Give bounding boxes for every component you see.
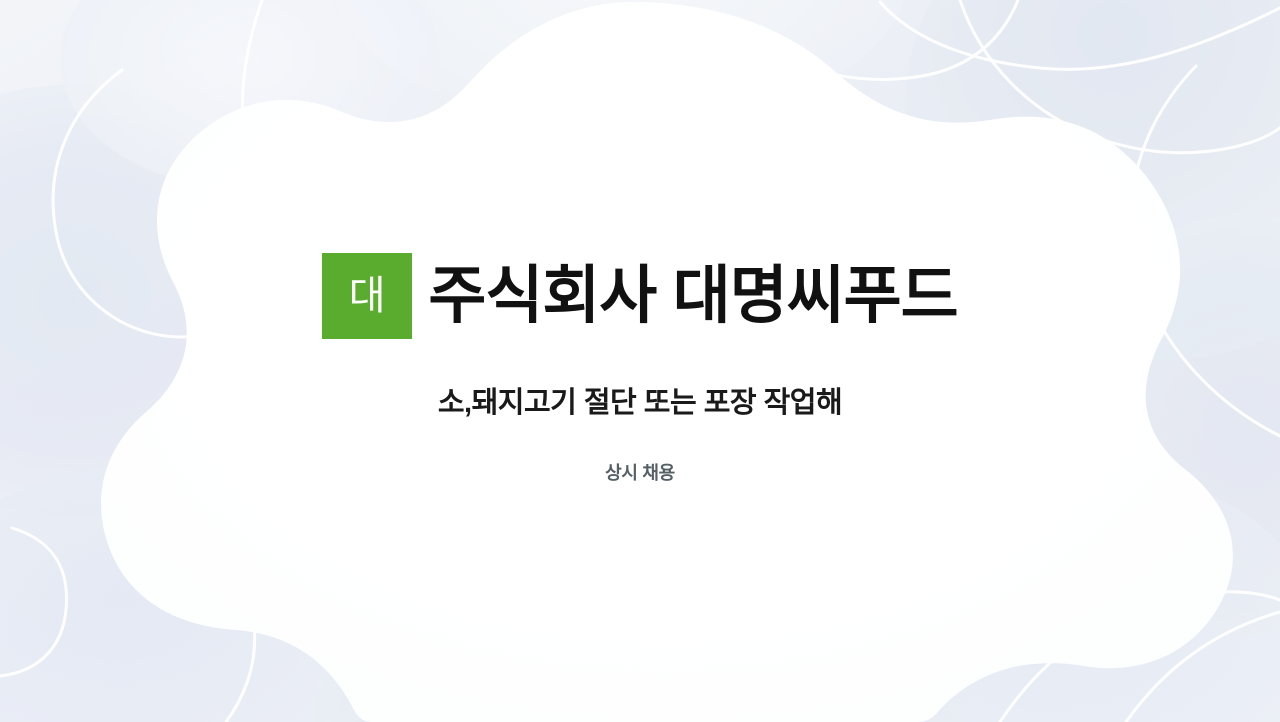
company-initial-badge-label: 대 xyxy=(349,276,386,316)
card-content: 대 주식회사 대명씨푸드 소,돼지고기 절단 또는 포장 작업해 상시 채용 xyxy=(0,0,1280,722)
company-title-row: 대 주식회사 대명씨푸드 xyxy=(0,253,1280,339)
company-initial-badge: 대 xyxy=(322,253,412,339)
job-posting-card: 대 주식회사 대명씨푸드 소,돼지고기 절단 또는 포장 작업해 상시 채용 xyxy=(0,0,1280,722)
company-name: 주식회사 대명씨푸드 xyxy=(428,265,957,328)
job-title: 소,돼지고기 절단 또는 포장 작업해 xyxy=(0,385,1280,421)
hiring-status-label: 상시 채용 xyxy=(0,459,1280,485)
